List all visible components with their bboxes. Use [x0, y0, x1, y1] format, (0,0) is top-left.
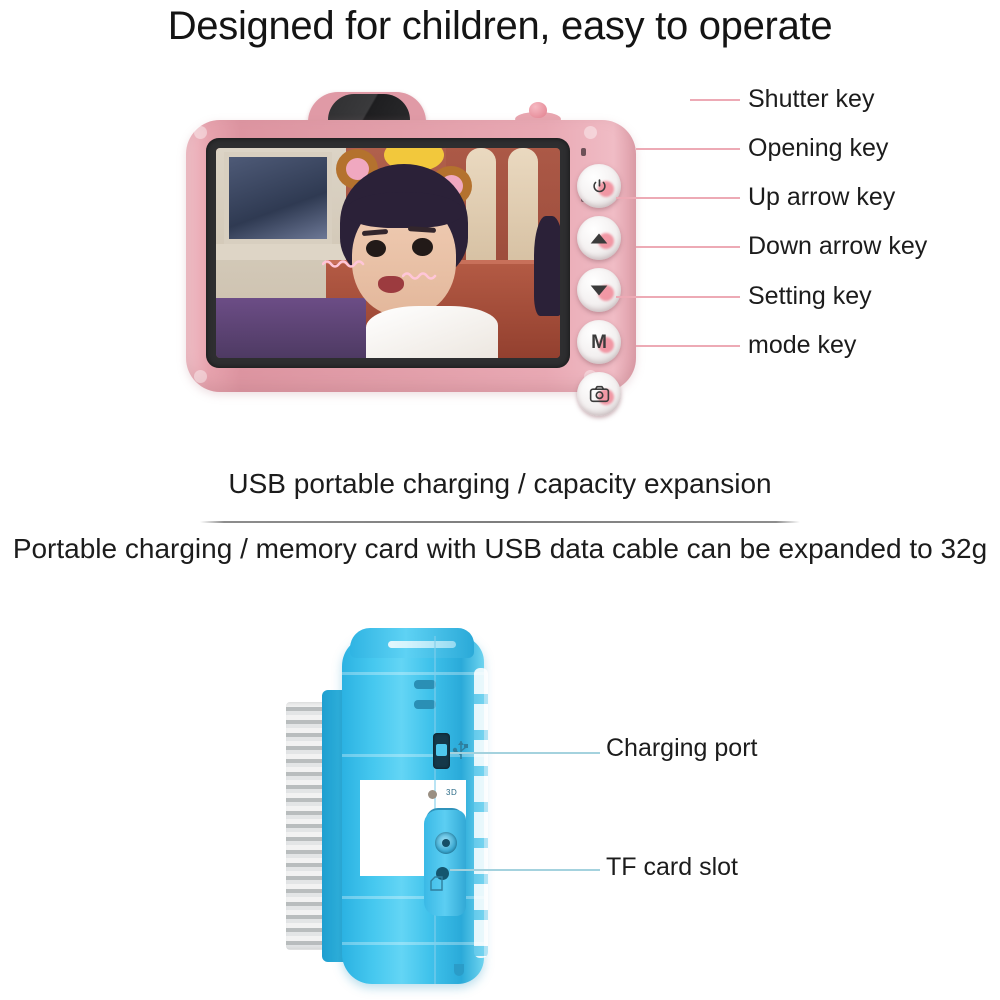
mode-button[interactable] — [577, 372, 621, 416]
sticker-whisker-icon — [322, 258, 368, 268]
camera-screen — [216, 148, 560, 358]
middle-heading: USB portable charging / capacity expansi… — [0, 468, 1000, 500]
page-title: Designed for children, easy to operate — [0, 4, 1000, 49]
callout-line-up-arrow-key — [616, 197, 740, 199]
child-mouth — [378, 276, 404, 293]
shutter-button[interactable] — [529, 102, 547, 118]
tf-card-icon — [428, 874, 452, 892]
callout-label-up-arrow-key: Up arrow key — [748, 185, 895, 210]
callout-line-mode-key — [636, 345, 740, 347]
power-icon — [586, 173, 612, 199]
callout-line-charging-port — [450, 752, 600, 754]
section-divider — [200, 521, 800, 523]
bottom-nub — [454, 964, 464, 976]
dial-housing — [424, 810, 466, 916]
down-arrow-button[interactable] — [577, 268, 621, 312]
indicator-led — [428, 790, 437, 799]
callout-line-opening-key — [636, 148, 740, 150]
up-arrow-button[interactable] — [577, 216, 621, 260]
tripod-mount-core — [442, 839, 450, 847]
callout-line-setting-key — [616, 296, 740, 298]
child-eye — [366, 240, 386, 257]
blue-camera-illustration: 3D — [278, 628, 528, 988]
callout-label-opening-key: Opening key — [748, 136, 888, 161]
scene-picture-frame — [224, 152, 332, 244]
body-corner-screw — [194, 370, 207, 383]
speaker-vent — [414, 700, 436, 709]
side-edge-highlight — [474, 668, 488, 958]
port-marking-label: 3D — [446, 788, 457, 797]
pink-camera-illustration: M — [186, 92, 636, 392]
m-letter-icon: M — [586, 329, 612, 355]
camera-mode-icon — [586, 381, 612, 407]
setting-button-label: M — [591, 333, 607, 352]
down-arrow-icon — [586, 277, 612, 303]
top-slot — [388, 641, 456, 648]
body-corner-screw — [584, 126, 597, 139]
child-shirt — [366, 306, 498, 358]
up-arrow-icon — [586, 225, 612, 251]
callout-label-mode-key: mode key — [748, 333, 856, 358]
scene-pillar — [466, 148, 496, 268]
child-fringe — [346, 192, 462, 228]
child-eye — [412, 238, 433, 256]
middle-subheading: Portable charging / memory card with USB… — [0, 533, 1000, 565]
callout-label-down-arrow-key: Down arrow key — [748, 234, 927, 259]
sticker-whisker-icon — [402, 270, 442, 280]
body-ridge — [342, 942, 484, 945]
callout-line-down-arrow-key — [636, 246, 740, 248]
body-ridge — [342, 672, 484, 675]
speaker-vent — [414, 680, 436, 689]
power-button[interactable] — [577, 164, 621, 208]
camera-body: M — [186, 120, 636, 392]
scene-background-person — [534, 216, 560, 316]
charging-port-tab — [436, 744, 447, 756]
callout-line-shutter-key — [690, 99, 740, 101]
callout-label-shutter-key: Shutter key — [748, 87, 874, 112]
setting-button[interactable]: M — [577, 320, 621, 364]
microphone-hole — [581, 148, 586, 156]
callout-line-tf-card-slot — [450, 869, 600, 871]
callout-label-tf-card-slot: TF card slot — [606, 855, 738, 880]
body-corner-screw — [194, 126, 207, 139]
callout-label-setting-key: Setting key — [748, 284, 872, 309]
callout-label-charging-port: Charging port — [606, 736, 757, 761]
usb-icon — [450, 738, 472, 764]
scene-floor — [216, 298, 366, 358]
